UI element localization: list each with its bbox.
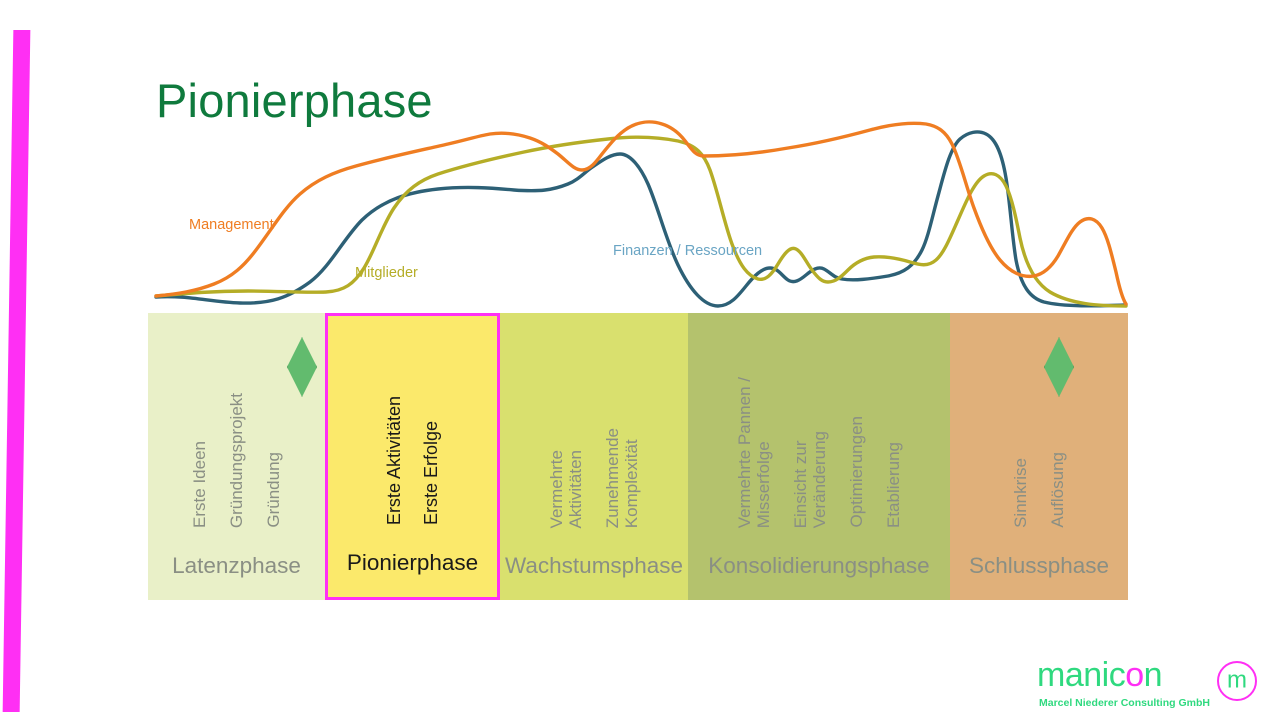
logo-word-part-1: manic [1037, 656, 1125, 694]
phase-schlussphase[interactable]: Sinnkrise Auflösung Schlussphase [950, 313, 1128, 600]
logo-wordmark: manicon [1037, 657, 1162, 693]
phase-band-strip: Erste Ideen Gründungsprojekt Gründung La… [148, 313, 1128, 600]
curve-label-finanzen-ressourcen: Finanzen / Ressourcen [613, 243, 762, 259]
milestone-label: Auflösung [1048, 446, 1067, 528]
milestone-label: Zunehmende Komplexität [603, 422, 641, 528]
left-accent-bar [3, 30, 31, 712]
milestone-label: Gründungsprojekt [227, 387, 246, 528]
company-logo: manicon Marcel Niederer Consulting GmbH … [1037, 657, 1267, 712]
phase-konsolidierungsphase[interactable]: Vermehrte Pannen / Misserfolge Einsicht … [688, 313, 950, 600]
milestone-label: Erste Ideen [190, 435, 209, 528]
phase-pionierphase[interactable]: Erste Aktivitäten Erste Erfolge Pionierp… [325, 313, 500, 600]
phase-wachstumsphase[interactable]: Vermehrte Aktivitäten Zunehmende Komplex… [500, 313, 688, 600]
curves-svg [148, 110, 1133, 315]
milestone-label: Erste Erfolge [422, 415, 441, 525]
milestone-label: Vermehrte Aktivitäten [547, 444, 585, 528]
logo-word-o: o [1125, 656, 1143, 694]
phase-name-pionierphase: Pionierphase [328, 550, 497, 576]
milestone-label: Vermehrte Pannen / Misserfolge [735, 371, 773, 528]
curve-label-mitglieder: Mitglieder [355, 265, 418, 281]
curve-label-management: Management [189, 217, 274, 233]
milestone-label: Gründung [264, 446, 283, 528]
logo-circle-badge: m [1217, 661, 1257, 701]
milestone-label: Sinnkrise [1011, 452, 1030, 528]
logo-word-part-2: n [1144, 656, 1162, 694]
phase-name-konsolidierungsphase: Konsolidierungsphase [688, 553, 950, 579]
milestone-label: Einsicht zur Veränderung [791, 425, 829, 528]
logo-tagline: Marcel Niederer Consulting GmbH [1039, 697, 1210, 709]
curve-finanzen-ressourcen [156, 132, 1126, 306]
curve-management [156, 122, 1126, 304]
milestone-label: Optimierungen [847, 410, 866, 528]
phase-name-schlussphase: Schlussphase [950, 553, 1128, 579]
milestone-label: Erste Aktivitäten [385, 390, 404, 525]
phase-name-latenzphase: Latenzphase [148, 553, 325, 579]
phase-latenzphase[interactable]: Erste Ideen Gründungsprojekt Gründung La… [148, 313, 325, 600]
trend-curves-chart [148, 110, 1133, 315]
phase-name-wachstumsphase: Wachstumsphase [500, 553, 688, 579]
phase-konsolidierungsphase-labels: Vermehrte Pannen / Misserfolge Einsicht … [688, 313, 950, 528]
phase-schlussphase-labels: Sinnkrise Auflösung [950, 313, 1128, 528]
logo-badge-letter: m [1219, 669, 1255, 693]
slide-canvas: Pionierphase Management Mitglieder Finan… [0, 0, 1280, 720]
milestone-label: Etablierung [884, 436, 903, 528]
phase-wachstumsphase-labels: Vermehrte Aktivitäten Zunehmende Komplex… [500, 313, 688, 528]
phase-pionierphase-labels: Erste Aktivitäten Erste Erfolge [328, 316, 497, 525]
